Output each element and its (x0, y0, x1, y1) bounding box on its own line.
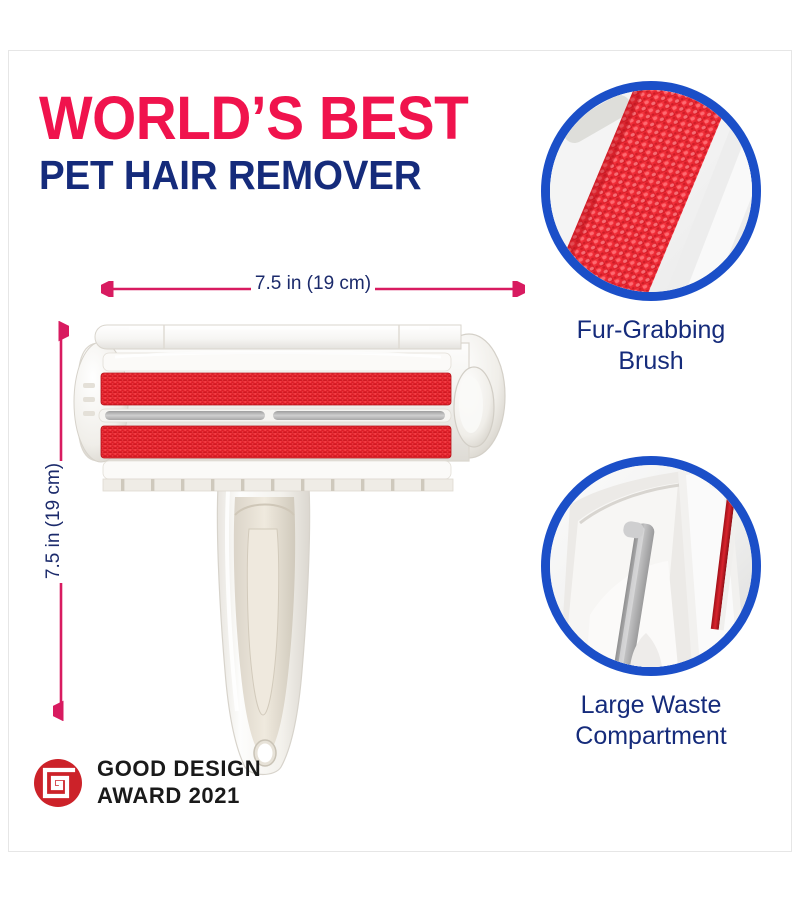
feature-caption-brush: Fur-Grabbing Brush (531, 315, 771, 376)
feature-caption-waste-line1: Large Waste (531, 690, 771, 721)
brush-detail-photo (541, 81, 761, 301)
feature-caption-brush-line2: Brush (531, 346, 771, 377)
comb-teeth (103, 479, 453, 491)
height-dimension-label: 7.5 in (19 cm) (43, 463, 65, 579)
good-design-award-logo-icon (33, 758, 83, 808)
infographic-page: WORLD’S BEST PET HAIR REMOVER 7.5 in (19… (0, 0, 800, 900)
brush-strip-upper (101, 373, 451, 405)
award-text: GOOD DESIGN AWARD 2021 (97, 756, 261, 810)
feature-caption-waste-line2: Compartment (531, 721, 771, 752)
product-handle (217, 471, 309, 775)
content-panel: WORLD’S BEST PET HAIR REMOVER 7.5 in (19… (8, 50, 792, 852)
feature-fur-grabbing-brush: Fur-Grabbing Brush (531, 81, 771, 376)
feature-caption-waste: Large Waste Compartment (531, 690, 771, 751)
brush-strip-lower (101, 426, 451, 458)
feature-circle-waste (541, 456, 761, 676)
award-line2: AWARD 2021 (97, 783, 261, 810)
product-image (69, 301, 529, 781)
award-line1: GOOD DESIGN (97, 756, 261, 783)
feature-large-waste-compartment: Large Waste Compartment (531, 456, 771, 751)
page-title: WORLD’S BEST (39, 89, 504, 148)
width-dimension-label: 7.5 in (19 cm) (101, 273, 525, 295)
award-badge: GOOD DESIGN AWARD 2021 (33, 756, 261, 810)
width-dimension: 7.5 in (19 cm) (101, 273, 525, 303)
feature-caption-brush-line1: Fur-Grabbing (531, 315, 771, 346)
feature-circle-brush (541, 81, 761, 301)
waste-compartment-photo (541, 456, 761, 676)
headline-block: WORLD’S BEST PET HAIR REMOVER (39, 89, 539, 197)
page-subtitle: PET HAIR REMOVER (39, 154, 509, 197)
product-roller-head (74, 325, 505, 491)
